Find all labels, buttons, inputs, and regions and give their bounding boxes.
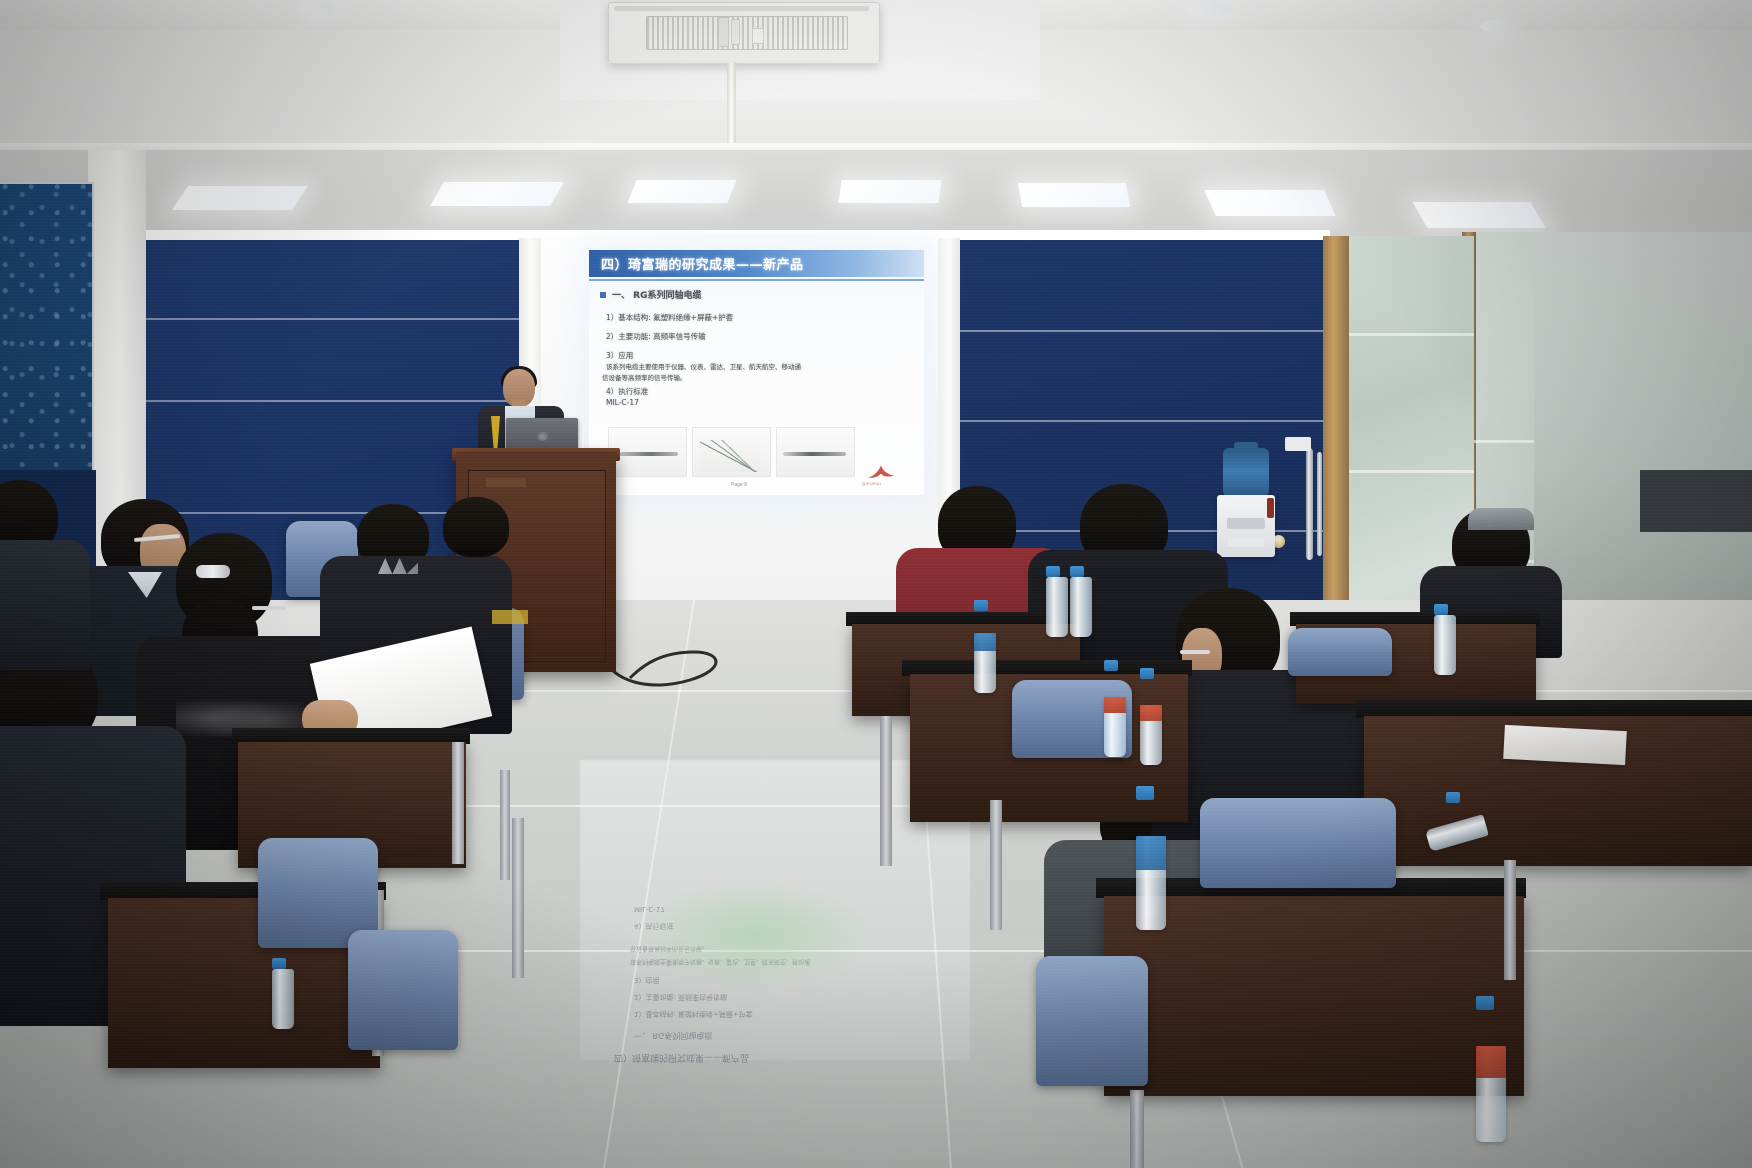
- bottle-label: [1136, 836, 1166, 870]
- air-conditioner-vent-a: [718, 17, 729, 47]
- slide-line-1: 1）基本结构: 氟塑料绝缘+屏蔽+护套: [606, 312, 733, 323]
- navy-seam-l2: [140, 400, 525, 402]
- ceiling-light-7: [1412, 202, 1545, 228]
- bottle-right-1: [974, 600, 996, 693]
- bottle-right-4: [1104, 660, 1126, 757]
- slide-line-4: 该系列电缆主要使用于仪器、仪表、雷达、卫星、航天航空、移动通: [606, 361, 801, 371]
- bottle-body: [974, 633, 996, 693]
- ceiling-light-1: [172, 186, 308, 210]
- bottle-body: [272, 969, 294, 1029]
- slide-line-7: MIL-C-17: [606, 398, 639, 407]
- bottle-cap-icon: [1476, 996, 1494, 1010]
- slide-title-text: 四）琦富瑞的研究成果——新产品: [601, 254, 901, 273]
- bottle-label: [1104, 697, 1126, 713]
- slide-page-label: Page 8: [731, 482, 747, 488]
- slide-line-2: 2）主要功能: 高频率信号传输: [606, 331, 706, 342]
- bottle-cap-icon: [1446, 792, 1460, 803]
- attendee-glasses-r3: [1180, 650, 1210, 654]
- bottle-cap-icon: [272, 958, 286, 969]
- desk-right-leg-1: [880, 716, 892, 866]
- air-conditioner-grille: [646, 16, 848, 50]
- bottle-right-3: [1070, 566, 1092, 637]
- chair-right-4: [1036, 956, 1148, 1086]
- wall-switch-plate[interactable]: [1285, 437, 1311, 451]
- slide-line-3: 3）应用: [606, 350, 633, 361]
- slide-image-2-wires: [700, 440, 760, 472]
- notebook-right[interactable]: [1503, 725, 1627, 765]
- bottle-right-5: [1140, 668, 1162, 765]
- reflection-line-9: 四）琦富瑞的研究成果——新产品: [614, 1052, 749, 1065]
- air-conditioner-vent-b: [731, 19, 740, 45]
- company-logo-icon: [866, 463, 896, 481]
- bottle-cap-icon: [1104, 660, 1118, 671]
- slide-image-3-cable: [783, 452, 846, 456]
- air-conditioner-sensor: [752, 28, 764, 44]
- door-handle[interactable]: [1306, 448, 1313, 560]
- bottle-right-6: [1136, 786, 1166, 930]
- bottle-right-2: [1046, 566, 1068, 637]
- attendee-cap-icon: [1468, 508, 1534, 530]
- bottle-body: [1046, 577, 1068, 637]
- bottle-cap-icon: [974, 600, 988, 611]
- desk-right-5: [1104, 896, 1524, 1096]
- bottle-label: [974, 633, 996, 651]
- ceiling-light-2: [430, 182, 564, 206]
- navy-seam-r2: [955, 420, 1330, 422]
- water-jug-icon: [1223, 448, 1269, 500]
- hair-clip-icon: [196, 565, 230, 578]
- bottle-body: [1136, 836, 1166, 930]
- desk-left-leg-2: [500, 770, 510, 880]
- bottle-body: [1070, 577, 1092, 637]
- company-logo-text: QIFURUI: [862, 481, 881, 486]
- slide-image-1-cable: [616, 452, 678, 456]
- door-handle-secondary[interactable]: [1317, 452, 1322, 556]
- bottle-left-1: [272, 958, 294, 1029]
- chair-right-2: [1288, 628, 1392, 676]
- desk-left-leg-1: [452, 742, 464, 864]
- bottle-label: [1476, 1046, 1506, 1078]
- bottle-cap-icon: [1070, 566, 1084, 577]
- acoustic-panel-frame: [0, 182, 94, 496]
- slide-bullet-marker: [600, 292, 606, 298]
- water-dispenser-hot-indicator: [1267, 498, 1274, 518]
- laptop-logo-icon: [537, 432, 548, 441]
- navy-seam-r1: [955, 330, 1330, 332]
- water-dispenser-tray: [1228, 538, 1264, 547]
- slide-line-5: 信设备等高频率的信号传输。: [602, 372, 687, 382]
- bottle-cap-icon: [1046, 566, 1060, 577]
- bottle-cap-icon: [1434, 604, 1448, 615]
- conference-room-photo: 四）琦富瑞的研究成果——新产品 一、 RG系列同轴电缆 1）基本结构: 氟塑料绝…: [0, 0, 1752, 1168]
- reflection-line-6: 2）主要功能: 高频率信号传输: [634, 992, 727, 1002]
- attendee-torso-4: [0, 540, 90, 670]
- bottle-cap-icon: [1140, 668, 1154, 679]
- ceiling-light-5: [1018, 183, 1130, 207]
- ceiling-light-4: [838, 180, 941, 203]
- glass-stripe-2: [1349, 470, 1474, 473]
- glass-stripe-1: [1349, 333, 1474, 336]
- attendee-hivis-stripe: [492, 610, 528, 624]
- bottle-body: [1104, 697, 1126, 757]
- podium-nameplate: [486, 478, 526, 487]
- bottle-body: [1434, 615, 1456, 675]
- ceiling-light-3: [627, 180, 736, 203]
- chair-right-3: [1200, 798, 1396, 888]
- glass-stripe-4: [1474, 440, 1534, 443]
- slide-title-underline: [589, 279, 924, 281]
- desk-right-leg-3: [1504, 860, 1516, 980]
- floor-green-glare: [640, 880, 870, 990]
- slide-line-6: 4）执行标准: [606, 386, 648, 397]
- bottle-body: [1140, 705, 1162, 765]
- chair-left-front-2: [348, 930, 458, 1050]
- bottle-right-9: [1476, 996, 1506, 1142]
- attendee-glasses-2: [252, 606, 286, 610]
- navy-seam-l1: [140, 318, 525, 320]
- reflection-line-8: 一、 RG系列同轴电缆: [634, 1030, 712, 1041]
- air-conditioner-slot: [614, 6, 869, 11]
- bottle-right-8: [1446, 792, 1468, 863]
- desk-right-leg-2: [990, 800, 1002, 930]
- ceiling-downlight-a: [300, 2, 334, 14]
- reflection-line-7: 1）基本结构: 氟塑料绝缘+屏蔽+护套: [634, 1009, 753, 1019]
- desk-right-leg-4: [1130, 1090, 1144, 1168]
- adjacent-room-furniture-a: [1640, 470, 1752, 532]
- bottle-body: [1476, 1046, 1506, 1142]
- desk-left-leg-3: [512, 818, 524, 978]
- water-dispenser-taps[interactable]: [1227, 518, 1265, 529]
- bottle-cap-icon: [1136, 786, 1154, 800]
- projector-mount-pole: [727, 62, 736, 156]
- reflection-line-5: 3）应用: [634, 975, 659, 985]
- ceiling-light-6: [1204, 190, 1336, 216]
- bottle-label: [1140, 705, 1162, 721]
- ceiling-light-8: [1185, 0, 1231, 16]
- ceiling-downlight-b: [1480, 20, 1510, 32]
- projector-floor-cable: [590, 560, 770, 720]
- slide-heading: 一、 RG系列同轴电缆: [612, 288, 701, 301]
- bottle-right-7: [1434, 604, 1456, 675]
